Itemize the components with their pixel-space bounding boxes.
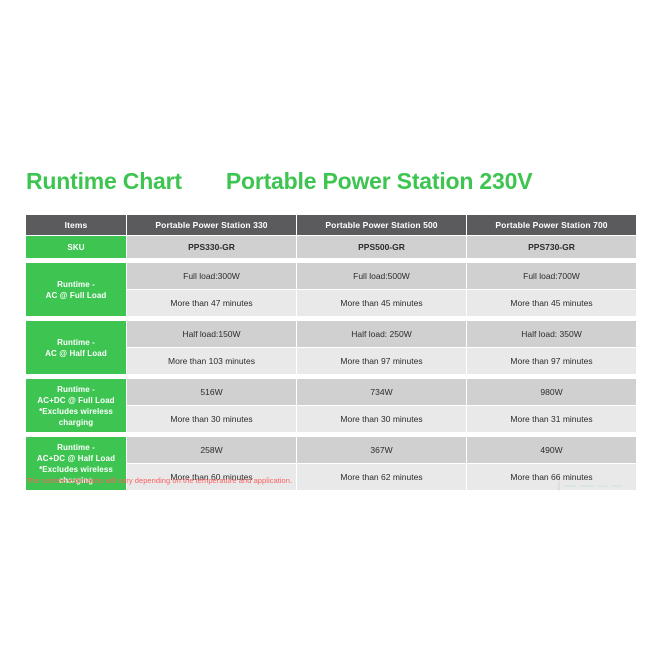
footnote-text: The runtime estimation will vary dependi… xyxy=(26,476,292,485)
table-cell: More than 97 minutes xyxy=(467,348,636,374)
row-label-line: charging xyxy=(26,417,126,428)
row-gap-cell xyxy=(127,317,296,320)
table-cell: Full load:500W xyxy=(297,263,466,289)
table-cell: More than 47 minutes xyxy=(127,290,296,316)
row-gap xyxy=(26,433,636,436)
runtime-table: Items Portable Power Station 330 Portabl… xyxy=(25,214,637,491)
table-body: SKUPPS330-GRPPS500-GRPPS730-GRRuntime -A… xyxy=(26,236,636,490)
row-gap-cell xyxy=(467,259,636,262)
table-cell: PPS500-GR xyxy=(297,236,466,258)
table-cell: Half load: 350W xyxy=(467,321,636,347)
row-gap-cell xyxy=(127,375,296,378)
row-gap-cell xyxy=(297,259,466,262)
runtime-table-wrapper: Items Portable Power Station 330 Portabl… xyxy=(25,214,635,491)
table-header-row: Items Portable Power Station 330 Portabl… xyxy=(26,215,636,235)
row-gap-cell xyxy=(26,375,126,378)
table-cell: More than 97 minutes xyxy=(297,348,466,374)
row-label-line: Runtime - xyxy=(26,337,126,348)
table-cell: More than 30 minutes xyxy=(297,406,466,432)
row-gap xyxy=(26,259,636,262)
table-cell: More than 103 minutes xyxy=(127,348,296,374)
row-label-line: AC @ Half Load xyxy=(26,348,126,359)
column-header-pps700: Portable Power Station 700 xyxy=(467,215,636,235)
table-cell: 367W xyxy=(297,437,466,463)
page-title: Runtime Chart Portable Power Station 230… xyxy=(26,168,532,195)
column-header-pps330: Portable Power Station 330 xyxy=(127,215,296,235)
table-row: SKUPPS330-GRPPS500-GRPPS730-GR xyxy=(26,236,636,258)
row-label-1: Runtime -AC @ Full Load xyxy=(26,263,126,316)
column-header-pps500: Portable Power Station 500 xyxy=(297,215,466,235)
row-label-0: SKU xyxy=(26,236,126,258)
table-cell: Full load:300W xyxy=(127,263,296,289)
watermark-bar xyxy=(558,481,560,491)
table-row: Runtime -AC @ Half LoadHalf load:150WHal… xyxy=(26,321,636,347)
table-cell: 258W xyxy=(127,437,296,463)
table-cell: 516W xyxy=(127,379,296,405)
row-gap-cell xyxy=(297,433,466,436)
column-header-items: Items xyxy=(26,215,126,235)
table-header: Items Portable Power Station 330 Portabl… xyxy=(26,215,636,235)
page-root: Runtime Chart Portable Power Station 230… xyxy=(0,0,662,662)
row-label-line: Runtime - xyxy=(26,442,126,453)
row-gap xyxy=(26,317,636,320)
table-cell: More than 31 minutes xyxy=(467,406,636,432)
row-gap-cell xyxy=(26,433,126,436)
table-cell: PPS330-GR xyxy=(127,236,296,258)
table-row: Runtime -AC @ Full LoadFull load:300WFul… xyxy=(26,263,636,289)
faint-watermark-artifact xyxy=(558,479,650,493)
table-cell: Full load:700W xyxy=(467,263,636,289)
row-gap-cell xyxy=(26,317,126,320)
watermark-dash xyxy=(565,485,576,487)
table-cell: More than 62 minutes xyxy=(297,464,466,490)
row-label-line: *Excludes wireless xyxy=(26,406,126,417)
row-gap-cell xyxy=(297,375,466,378)
row-gap-cell xyxy=(467,317,636,320)
table-cell: 734W xyxy=(297,379,466,405)
row-label-line: Runtime - xyxy=(26,279,126,290)
row-gap-cell xyxy=(127,433,296,436)
table-cell: More than 30 minutes xyxy=(127,406,296,432)
row-gap-cell xyxy=(127,259,296,262)
row-gap xyxy=(26,375,636,378)
row-gap-cell xyxy=(26,259,126,262)
row-label-3: Runtime -AC+DC @ Full Load*Excludes wire… xyxy=(26,379,126,432)
table-cell: PPS730-GR xyxy=(467,236,636,258)
row-gap-cell xyxy=(467,375,636,378)
row-label-line: AC+DC @ Full Load xyxy=(26,395,126,406)
table-cell: More than 45 minutes xyxy=(297,290,466,316)
row-label-line: AC+DC @ Half Load xyxy=(26,453,126,464)
row-label-line: *Excludes wireless xyxy=(26,464,126,475)
title-subtitle: Portable Power Station 230V xyxy=(226,168,532,195)
watermark-dash xyxy=(599,485,607,487)
watermark-dash xyxy=(612,485,622,487)
row-label-2: Runtime -AC @ Half Load xyxy=(26,321,126,374)
row-label-line: SKU xyxy=(26,242,126,253)
title-main: Runtime Chart xyxy=(26,168,182,195)
table-row: Runtime -AC+DC @ Full Load*Excludes wire… xyxy=(26,379,636,405)
table-row: Runtime -AC+DC @ Half Load*Excludes wire… xyxy=(26,437,636,463)
table-cell: More than 45 minutes xyxy=(467,290,636,316)
row-gap-cell xyxy=(467,433,636,436)
table-cell: Half load: 250W xyxy=(297,321,466,347)
row-gap-cell xyxy=(297,317,466,320)
row-label-line: Runtime - xyxy=(26,384,126,395)
table-cell: 490W xyxy=(467,437,636,463)
row-label-line: AC @ Full Load xyxy=(26,290,126,301)
table-cell: 980W xyxy=(467,379,636,405)
table-cell: Half load:150W xyxy=(127,321,296,347)
watermark-dash xyxy=(581,485,594,487)
